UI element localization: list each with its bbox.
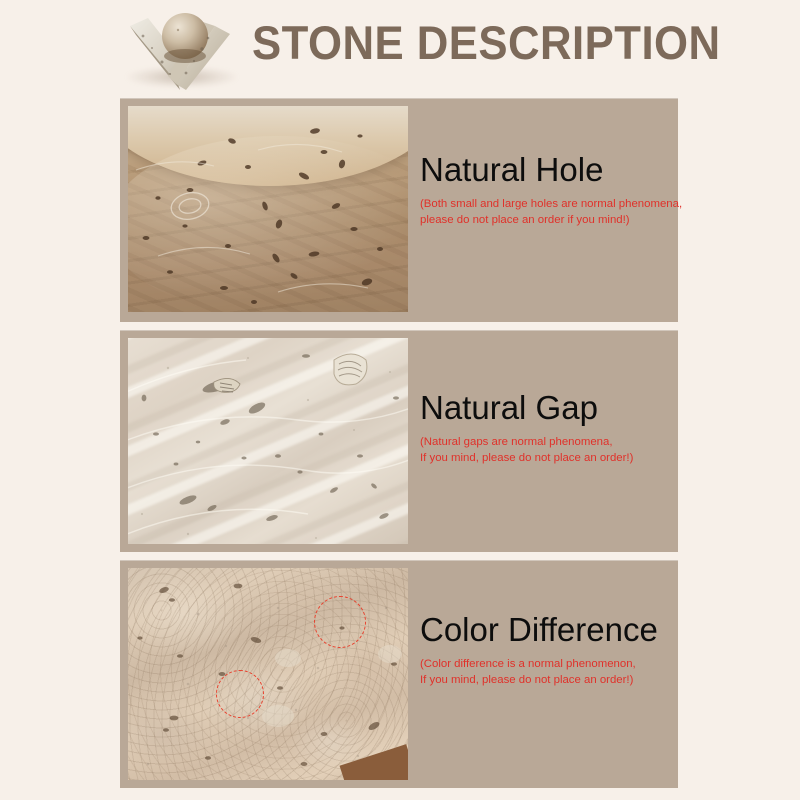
section-note-line: If you mind, please do not place an orde… — [420, 673, 668, 689]
photo-natural-gap — [128, 338, 408, 544]
stone-holes — [128, 106, 408, 312]
section-note-line: (Both small and large holes are normal p… — [420, 197, 668, 213]
photo-color-difference — [128, 568, 408, 780]
stone-gaps — [128, 338, 408, 544]
section-card-natural-hole: Natural Hole (Both small and large holes… — [120, 98, 678, 322]
page-header: STONE DESCRIPTION — [0, 0, 800, 96]
section-note-line: (Natural gaps are normal phenomena, — [420, 435, 668, 451]
section-note: (Natural gaps are normal phenomena, If y… — [420, 435, 668, 466]
color-difference-marker-2 — [216, 670, 264, 718]
section-card-natural-gap: Natural Gap (Natural gaps are normal phe… — [120, 330, 678, 552]
section-heading: Natural Hole — [420, 150, 668, 190]
stone-logo — [118, 4, 246, 94]
section-note: (Both small and large holes are normal p… — [420, 197, 668, 228]
travertine-stone-v-with-sphere-icon — [118, 4, 246, 94]
stone-pits — [128, 568, 408, 780]
section-note: (Color difference is a normal phenomenon… — [420, 657, 668, 688]
section-note-line: (Color difference is a normal phenomenon… — [420, 657, 668, 673]
section-text-color-difference: Color Difference (Color difference is a … — [420, 610, 668, 688]
section-heading: Color Difference — [420, 610, 668, 650]
section-note-line: If you mind, please do not place an orde… — [420, 451, 668, 467]
section-text-natural-gap: Natural Gap (Natural gaps are normal phe… — [420, 388, 668, 466]
section-card-color-difference: Color Difference (Color difference is a … — [120, 560, 678, 788]
color-difference-marker-1 — [314, 596, 366, 648]
section-heading: Natural Gap — [420, 388, 668, 428]
section-note-line: please do not place an order if you mind… — [420, 213, 668, 229]
photo-natural-hole — [128, 106, 408, 312]
page-title: STONE DESCRIPTION — [252, 10, 721, 76]
section-text-natural-hole: Natural Hole (Both small and large holes… — [420, 150, 668, 228]
